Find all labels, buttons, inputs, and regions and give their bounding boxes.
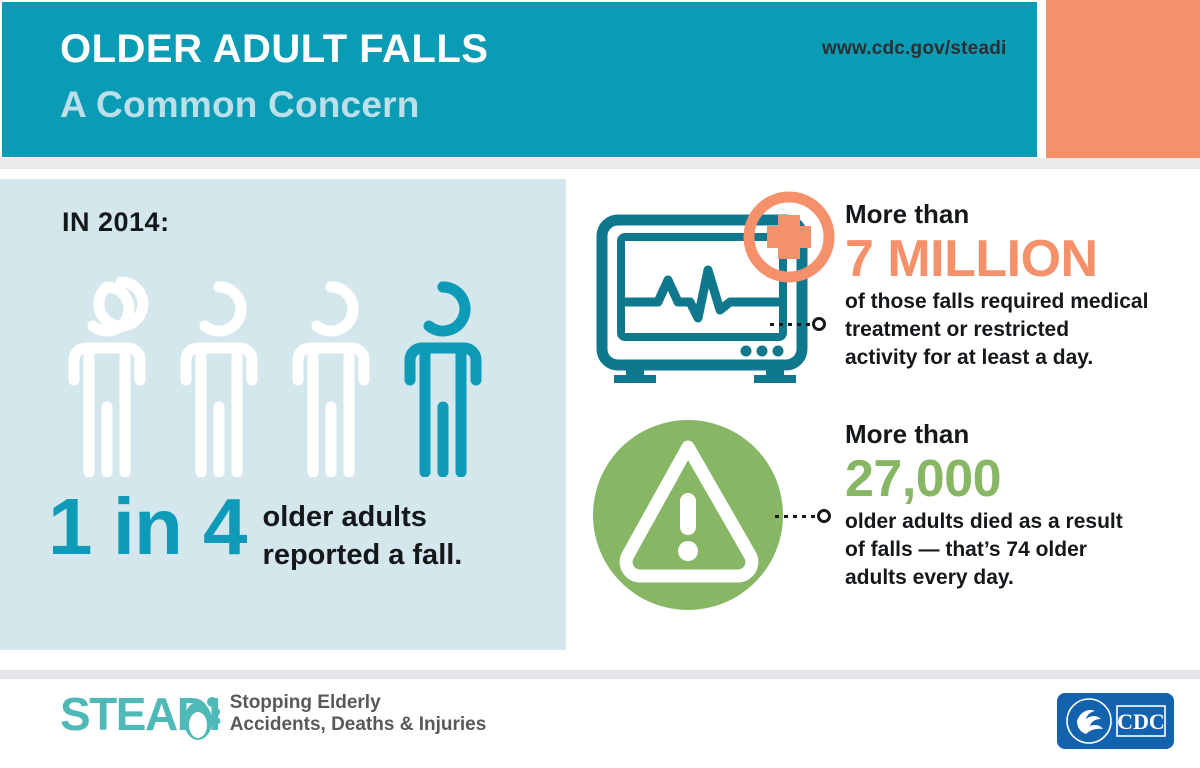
steadi-wordmark: STEADI [60,691,220,737]
person-icon [175,277,263,477]
connector-line [770,315,826,333]
stat-number: 27,000 [845,450,1190,508]
stat-text-group: More than 7 MILLION of those falls requi… [845,200,1190,371]
steadi-wordmark-part1: STEA [60,688,177,740]
stat-description: older adults died as a result of falls —… [845,508,1190,591]
left-stat-panel: IN 2014: [0,179,566,650]
connector-endpoint-icon [817,509,831,523]
person-icon [63,277,151,477]
page-title: OLDER ADULT FALLS [60,28,488,70]
stat-description-line2: of falls — that’s 74 older [845,536,1190,564]
cdc-logo: CDC [1057,693,1174,749]
ratio-description-line1: older adults [263,499,463,537]
person-icon-highlighted [399,277,487,477]
stat-text-group: More than 27,000 older adults died as a … [845,420,1190,591]
stat-number: 7 MILLION [845,230,1190,288]
person-icon [287,277,375,477]
ratio-statistic: 1 in 4 older adults reported a fall. [48,489,462,574]
infographic-root: OLDER ADULT FALLS A Common Concern IN 20… [0,0,1200,768]
header-banner [2,2,1037,157]
people-icon-group [55,277,525,487]
warning-triangle-icon [590,415,800,630]
connector-line [775,507,831,525]
footer-divider [0,670,1200,679]
heart-monitor-icon [590,190,860,395]
ratio-value: 1 in 4 [48,489,247,565]
footprint-icon [182,693,222,741]
footer-url[interactable]: www.cdc.gov/steadi [822,38,1007,60]
stat-description-line3: adults every day. [845,564,1190,592]
connector-dots [770,323,810,326]
year-label: IN 2014: [62,207,170,238]
stat-description-line1: of those falls required medical [845,288,1190,316]
page-subtitle: A Common Concern [60,86,420,125]
stat-description-line1: older adults died as a result [845,508,1190,536]
ratio-description: older adults reported a fall. [263,499,463,574]
steadi-tagline: Stopping Elderly Accidents, Deaths & Inj… [230,692,487,737]
steadi-logo: STEADI Stopping Elderly Accidents, Death… [60,691,486,737]
header-accent-block [1046,0,1200,158]
stat-description-line3: activity for at least a day. [845,344,1190,372]
steadi-tagline-line1: Stopping Elderly [230,692,487,714]
stat-description-line2: treatment or restricted [845,316,1190,344]
ratio-description-line2: reported a fall. [263,537,463,575]
stat-kicker: More than [845,200,1190,230]
steadi-tagline-line2: Accidents, Deaths & Injuries [230,714,487,736]
connector-dots [775,515,815,518]
header-divider [0,158,1200,169]
footer: STEADI Stopping Elderly Accidents, Death… [0,679,1200,768]
stat-kicker: More than [845,420,1190,450]
cdc-badge-label: CDC [1117,709,1165,734]
stat-description: of those falls required medical treatmen… [845,288,1190,371]
connector-endpoint-icon [812,317,826,331]
